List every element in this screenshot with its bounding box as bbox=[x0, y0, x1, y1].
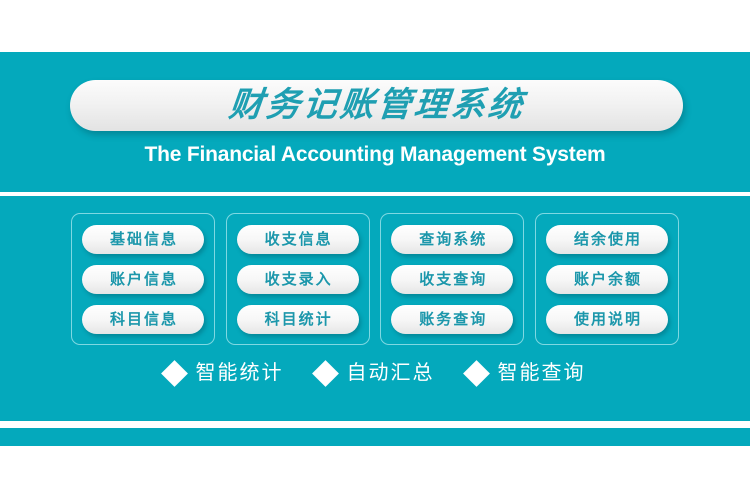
menu-button-account-query[interactable]: 账务查询 bbox=[391, 305, 513, 334]
feature-label: 自动汇总 bbox=[347, 363, 435, 383]
feature-label: 智能查询 bbox=[498, 363, 586, 383]
menu-column-query-system: 查询系统 收支查询 账务查询 bbox=[380, 213, 524, 345]
feature-item-auto-summary: 自动汇总 bbox=[316, 363, 435, 383]
title-plate: 财务记账管理系统 bbox=[70, 80, 683, 131]
menu-button-label: 账务查询 bbox=[417, 312, 487, 327]
menu-button-label: 科目统计 bbox=[263, 312, 333, 327]
menu-button-basic-info[interactable]: 基础信息 bbox=[82, 225, 204, 254]
page-title: 财务记账管理系统 bbox=[227, 88, 527, 124]
menu-button-subject-info[interactable]: 科目信息 bbox=[82, 305, 204, 334]
menu-grid: 基础信息 账户信息 科目信息 收支信息 收支录入 科目统计 查询系统 bbox=[71, 213, 679, 345]
feature-label: 智能统计 bbox=[196, 363, 284, 383]
menu-button-balance-usage[interactable]: 结余使用 bbox=[546, 225, 668, 254]
menu-column-basic-information: 基础信息 账户信息 科目信息 bbox=[71, 213, 215, 345]
diamond-icon bbox=[312, 360, 339, 387]
diamond-icon bbox=[463, 360, 490, 387]
menu-button-label: 账户信息 bbox=[108, 272, 178, 287]
feature-row: 智能统计 自动汇总 智能查询 bbox=[0, 363, 750, 383]
menu-button-subject-statistics[interactable]: 科目统计 bbox=[237, 305, 359, 334]
menu-button-account-info[interactable]: 账户信息 bbox=[82, 265, 204, 294]
menu-button-label: 查询系统 bbox=[417, 232, 487, 247]
menu-button-query-system[interactable]: 查询系统 bbox=[391, 225, 513, 254]
menu-button-instructions[interactable]: 使用说明 bbox=[546, 305, 668, 334]
page-subtitle: The Financial Accounting Management Syst… bbox=[0, 143, 750, 167]
menu-column-balance-usage: 结余使用 账户余额 使用说明 bbox=[535, 213, 679, 345]
menu-button-label: 结余使用 bbox=[572, 232, 642, 247]
menu-button-label: 收支信息 bbox=[263, 232, 333, 247]
footer-band bbox=[0, 428, 750, 446]
feature-item-smart-query: 智能查询 bbox=[467, 363, 586, 383]
menu-button-label: 基础信息 bbox=[108, 232, 178, 247]
menu-button-account-balance[interactable]: 账户余额 bbox=[546, 265, 668, 294]
menu-button-label: 科目信息 bbox=[108, 312, 178, 327]
menu-column-income-expense: 收支信息 收支录入 科目统计 bbox=[226, 213, 370, 345]
menu-button-label: 收支录入 bbox=[263, 272, 333, 287]
menu-button-income-expense-query[interactable]: 收支查询 bbox=[391, 265, 513, 294]
app-root: 财务记账管理系统 The Financial Accounting Manage… bbox=[0, 0, 750, 501]
menu-button-income-expense-info[interactable]: 收支信息 bbox=[237, 225, 359, 254]
menu-button-label: 使用说明 bbox=[572, 312, 642, 327]
diamond-icon bbox=[161, 360, 188, 387]
menu-button-income-expense-entry[interactable]: 收支录入 bbox=[237, 265, 359, 294]
menu-button-label: 收支查询 bbox=[417, 272, 487, 287]
menu-button-label: 账户余额 bbox=[572, 272, 642, 287]
feature-item-smart-statistics: 智能统计 bbox=[165, 363, 284, 383]
